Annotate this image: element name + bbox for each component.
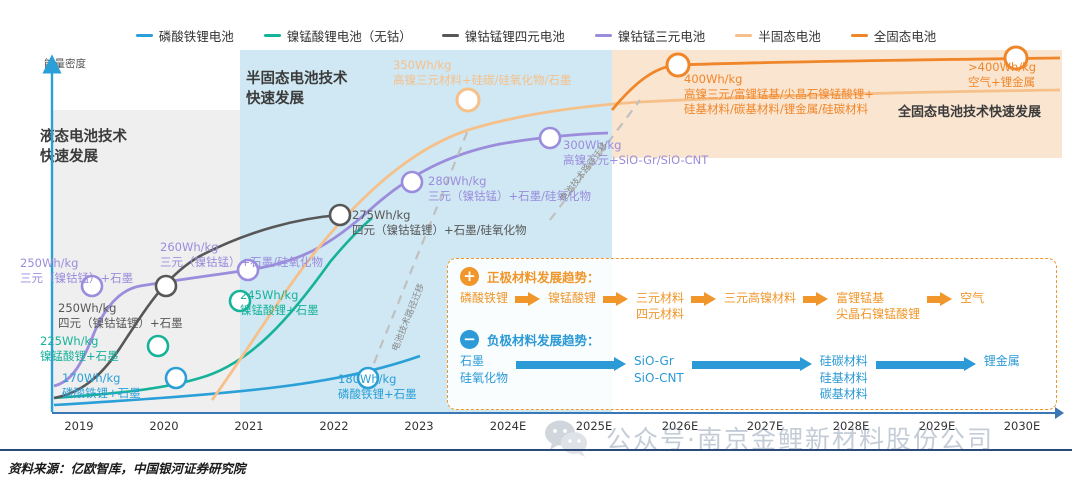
arrow-right-icon: [603, 292, 629, 306]
legend-swatch-icon: [735, 34, 752, 37]
x-axis-arrow-icon: [1055, 407, 1064, 419]
x-tick: 2030E: [1004, 419, 1041, 433]
data-point-marker: [166, 368, 186, 388]
legend-label: 镍锰酸锂电池（无钴）: [287, 26, 412, 45]
annotation-value: 400Wh/kg: [684, 72, 742, 86]
chain-node: 三元高镍材料: [724, 290, 796, 306]
annotation-value: >400Wh/kg: [968, 60, 1036, 74]
annotation-material: 镍锰酸锂+石墨: [40, 349, 119, 363]
annotation-value: 245Wh/kg: [240, 288, 298, 302]
x-tick: 2028E: [833, 419, 870, 433]
x-tick: 2025E: [576, 419, 613, 433]
legend-label: 镍钴锰三元电池: [618, 26, 706, 45]
footer-divider: [0, 449, 1072, 451]
plus-icon: +: [460, 267, 479, 286]
annotation-250-ncm: 250Wh/kg 三元（镍钴锰）+石墨: [20, 256, 133, 286]
annotation-180-lfp: 180Wh/kg 磷酸铁锂+石墨: [338, 372, 417, 402]
annotation-value: 280Wh/kg: [428, 174, 486, 188]
chain-node: 石墨 硅氧化物: [460, 353, 508, 385]
annotation-275-quaternary: 275Wh/kg 四元（镍钴锰锂）+石墨/硅氧化物: [352, 208, 527, 238]
x-tick: 2022: [319, 419, 348, 433]
legend-swatch-icon: [442, 34, 459, 37]
legend-item: 全固态电池: [851, 26, 937, 45]
legend-swatch-icon: [264, 34, 281, 37]
annotation-170-lfp: 170Wh/kg 磷酸铁锂+石墨: [62, 371, 141, 401]
x-axis-line: [52, 412, 1062, 414]
cathode-chain: 磷酸铁锂 镍锰酸锂 三元材料 四元材料 三元高镍材料 富锂锰基 尖晶石镍锰酸锂 …: [460, 290, 1044, 322]
chain-node: 三元材料 四元材料: [636, 290, 684, 322]
arrow-right-icon: [692, 357, 812, 371]
x-tick: 2024E: [490, 419, 527, 433]
x-tick: 2019: [64, 419, 93, 433]
x-tick: 2020: [149, 419, 178, 433]
source-note: 资料来源：亿欧智库，中国银河证券研究院: [8, 458, 246, 477]
legend-swatch-icon: [136, 34, 153, 37]
data-point-marker: [402, 172, 422, 192]
legend-item: 镍钴锰锂四元电池: [442, 26, 565, 45]
data-point-marker: [156, 276, 176, 296]
legend: 磷酸铁锂电池 镍锰酸锂电池（无钴） 镍钴锰锂四元电池 镍钴锰三元电池 半固态电池…: [0, 22, 1072, 48]
legend-item: 镍锰酸锂电池（无钴）: [264, 26, 412, 45]
chain-node: 镍锰酸锂: [548, 290, 596, 306]
arrow-right-icon: [803, 292, 829, 306]
annotation-value: 250Wh/kg: [58, 301, 116, 315]
annotation-material: 空气+锂金属: [968, 75, 1035, 89]
arrow-right-icon: [691, 292, 717, 306]
data-point-marker: [330, 205, 350, 225]
annotation-value: 170Wh/kg: [62, 371, 120, 385]
annotation-material: 磷酸铁锂+石墨: [338, 387, 417, 401]
chain-node: SiO-Gr SiO-CNT: [634, 353, 684, 385]
annotation-260-ncm: 260Wh/kg 三元（镍钴锰）+石墨/硅氧化物: [160, 240, 323, 270]
materials-inset: + 正极材料发展趋势： 磷酸铁锂 镍锰酸锂 三元材料 四元材料 三元高镍材料 富…: [447, 258, 1057, 410]
annotation-400-allsolid: 400Wh/kg 高镍三元/富锂锰基/尖晶石镍锰酸锂+ 硅基材料/碳基材料/锂金…: [684, 72, 874, 117]
arrow-right-icon: [515, 292, 541, 306]
x-tick: 2023: [404, 419, 433, 433]
annotation-material: 三元（镍钴锰）+石墨/硅氧化物: [160, 255, 323, 269]
annotation-material: 镍锰酸锂+石墨: [240, 303, 319, 317]
chain-node: 富锂锰基 尖晶石镍锰酸锂: [836, 290, 920, 322]
annotation-value: 180Wh/kg: [338, 372, 396, 386]
anode-title: 负极材料发展趋势：: [487, 330, 600, 349]
annotation-value: 250Wh/kg: [20, 256, 78, 270]
chain-node: 空气: [960, 290, 984, 306]
annotation-material: 高镍三元材料+硅碳/硅氧化物/石墨: [393, 73, 571, 87]
annotation-350-semisolid: 350Wh/kg 高镍三元材料+硅碳/硅氧化物/石墨: [393, 58, 571, 88]
legend-item: 磷酸铁锂电池: [136, 26, 234, 45]
arrow-right-icon: [876, 357, 976, 371]
x-tick: 2021: [234, 419, 263, 433]
annotation-value: 260Wh/kg: [160, 240, 218, 254]
x-tick: 2026E: [662, 419, 699, 433]
data-point-marker: [148, 336, 168, 356]
legend-label: 全固态电池: [874, 26, 937, 45]
legend-label: 镍钴锰锂四元电池: [465, 26, 565, 45]
annotation-225-lnmo: 225Wh/kg 镍锰酸锂+石墨: [40, 334, 119, 364]
chain-node: 硅碳材料 硅基材料 碳基材料: [820, 353, 868, 402]
annotation-material: 磷酸铁锂+石墨: [62, 386, 141, 400]
anode-chain: 石墨 硅氧化物 SiO-Gr SiO-CNT 硅碳材料 硅基材料 碳基材料 锂金…: [460, 353, 1044, 402]
x-tick: 2029E: [919, 419, 956, 433]
annotation-value: 350Wh/kg: [393, 58, 451, 72]
legend-item: 镍钴锰三元电池: [595, 26, 706, 45]
arrow-right-icon: [927, 292, 953, 306]
cathode-title: 正极材料发展趋势：: [487, 267, 600, 286]
data-point-marker: [540, 128, 560, 148]
annotation-material: 高镍三元/富锂锰基/尖晶石镍锰酸锂+ 硅基材料/碳基材料/锂金属/硅碳材料: [684, 87, 874, 116]
annotation-245-lnmo: 245Wh/kg 镍锰酸锂+石墨: [240, 288, 319, 318]
annotation-material: 三元（镍钴锰）+石墨: [20, 271, 133, 285]
chart-root: 磷酸铁锂电池 镍锰酸锂电池（无钴） 镍钴锰锂四元电池 镍钴锰三元电池 半固态电池…: [0, 0, 1072, 484]
chain-node: 锂金属: [984, 353, 1020, 369]
annotation-value: 225Wh/kg: [40, 334, 98, 348]
annotation-250-quaternary: 250Wh/kg 四元（镍钴锰锂）+石墨: [58, 301, 183, 331]
legend-item: 半固态电池: [735, 26, 821, 45]
data-point-marker: [457, 89, 479, 111]
legend-label: 磷酸铁锂电池: [159, 26, 234, 45]
minus-icon: −: [460, 330, 479, 349]
legend-swatch-icon: [851, 34, 868, 37]
chain-node: 磷酸铁锂: [460, 290, 508, 306]
annotation-material: 四元（镍钴锰锂）+石墨: [58, 316, 183, 330]
legend-swatch-icon: [595, 34, 612, 37]
cathode-header: + 正极材料发展趋势：: [460, 267, 1044, 286]
legend-label: 半固态电池: [758, 26, 821, 45]
anode-header: − 负极材料发展趋势：: [460, 330, 1044, 349]
x-tick: 2027E: [747, 419, 784, 433]
arrow-right-icon: [516, 357, 626, 371]
annotation-material: 四元（镍钴锰锂）+石墨/硅氧化物: [352, 223, 527, 237]
annotation-value: 275Wh/kg: [352, 208, 410, 222]
annotation-over400-allsolid: >400Wh/kg 空气+锂金属: [968, 60, 1036, 90]
